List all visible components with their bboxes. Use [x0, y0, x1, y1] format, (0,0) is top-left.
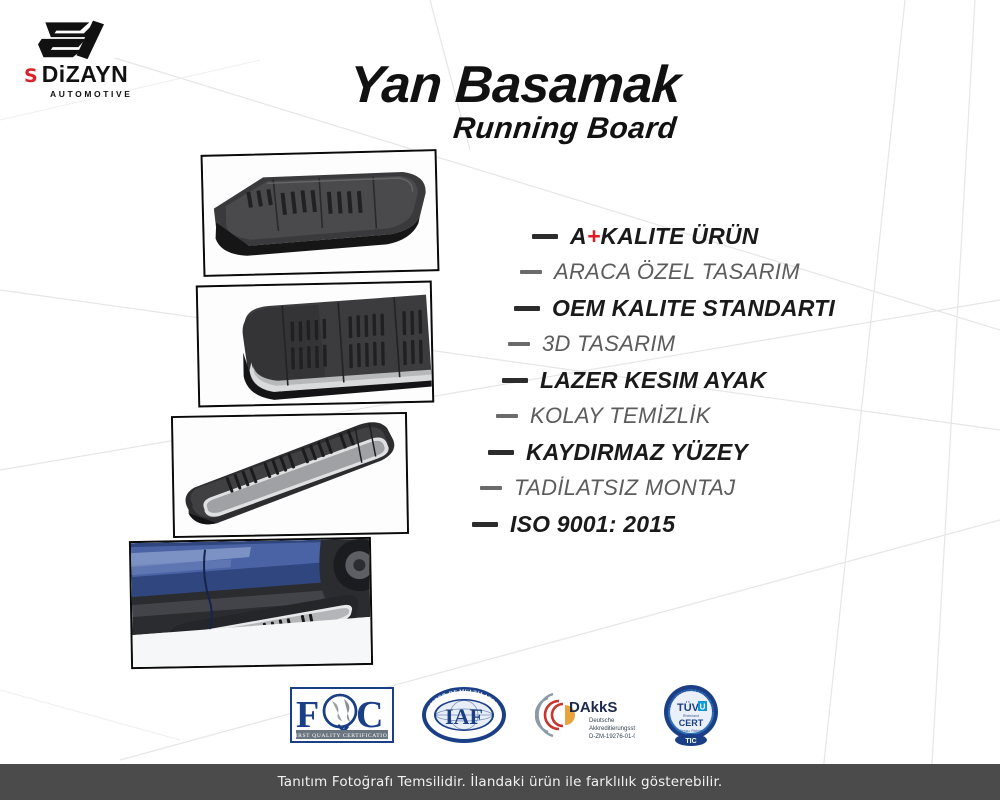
- svg-text:U: U: [700, 703, 706, 712]
- feature-item: 3D TASARIM: [470, 326, 940, 362]
- feature-label: KAYDIRMAZ YÜZEY: [526, 441, 748, 464]
- brand-logo: S DiZAYN AUTOMOTIVE: [24, 16, 174, 99]
- bullet-dash-icon: [480, 486, 502, 490]
- certification-badges: F C FIRST QUALITY CERTIFICATION: [290, 682, 720, 748]
- svg-text:C: C: [356, 694, 383, 736]
- iaf-badge: IAF MEMBER OF MULTILATERAL RECOGNITION A…: [421, 684, 507, 746]
- svg-text:IAF: IAF: [445, 704, 483, 729]
- bullet-dash-icon: [502, 378, 528, 383]
- feature-label: TADİLATSIZ MONTAJ: [514, 477, 735, 499]
- feature-item: KOLAY TEMİZLİK: [470, 398, 940, 434]
- logo-s-letter: S: [24, 67, 38, 86]
- feature-label: 3D TASARIM: [542, 333, 675, 355]
- feature-label: A+KALITE ÜRÜN: [570, 225, 759, 248]
- poster-canvas: S DiZAYN AUTOMOTIVE Yan Basamak Running …: [0, 0, 1000, 800]
- s-monogram-icon: [38, 16, 104, 60]
- product-photo-1[interactable]: [201, 149, 440, 277]
- dakks-badge: DAkkS Deutsche Akkreditierungsstelle D-Z…: [535, 684, 635, 746]
- logo-tagline: AUTOMOTIVE: [50, 89, 174, 99]
- svg-text:DAkkS: DAkkS: [569, 699, 617, 716]
- bullet-dash-icon: [488, 450, 514, 455]
- footer-disclaimer: Tanıtım Fotoğrafı Temsilidir. İlandaki ü…: [278, 774, 723, 790]
- svg-text:Genau. Richtig.: Genau. Richtig.: [679, 729, 702, 733]
- feature-item: KAYDIRMAZ YÜZEY: [470, 434, 940, 470]
- bullet-dash-icon: [472, 522, 498, 527]
- product-photo-3[interactable]: [171, 412, 409, 538]
- product-photo-4[interactable]: [129, 537, 373, 669]
- feature-label: KOLAY TEMİZLİK: [530, 405, 711, 427]
- svg-text:D-ZM-19276-01-00: D-ZM-19276-01-00: [589, 734, 635, 740]
- page-subtitle: Running Board: [328, 112, 802, 146]
- feature-item: ARACA ÖZEL TASARIM: [470, 254, 940, 290]
- bullet-dash-icon: [514, 306, 540, 311]
- svg-text:TÜV: TÜV: [677, 701, 700, 714]
- svg-text:TIC: TIC: [685, 738, 696, 745]
- feature-item: A+KALITE ÜRÜN: [470, 218, 940, 254]
- feature-label: ISO 9001: 2015: [510, 513, 675, 536]
- feature-item: ISO 9001: 2015: [470, 506, 940, 542]
- product-photo-2[interactable]: [196, 281, 435, 408]
- svg-text:FIRST QUALITY CERTIFICATION: FIRST QUALITY CERTIFICATION: [292, 733, 392, 739]
- svg-text:Deutsche: Deutsche: [589, 718, 615, 724]
- fqc-badge: F C FIRST QUALITY CERTIFICATION: [290, 684, 394, 746]
- feature-item: LAZER KESIM AYAK: [470, 362, 940, 398]
- logo-wordmark: DiZAYN: [42, 63, 129, 86]
- feature-item: OEM KALITE STANDARTI: [470, 290, 940, 326]
- feature-label: OEM KALITE STANDARTI: [552, 297, 835, 320]
- svg-text:CERT: CERT: [679, 718, 704, 728]
- svg-text:Akkreditierungsstelle: Akkreditierungsstelle: [589, 726, 635, 732]
- feature-label: ARACA ÖZEL TASARIM: [554, 261, 800, 283]
- bullet-dash-icon: [520, 270, 542, 274]
- footer-bar: Tanıtım Fotoğrafı Temsilidir. İlandaki ü…: [0, 764, 1000, 800]
- tuv-badge: INTERNATIONAL CERTIFICATION TÜV U Rheinl…: [662, 684, 720, 746]
- feature-label: LAZER KESIM AYAK: [540, 369, 766, 392]
- bullet-dash-icon: [496, 414, 518, 418]
- bullet-dash-icon: [508, 342, 530, 346]
- feature-item: TADİLATSIZ MONTAJ: [470, 470, 940, 506]
- feature-list: A+KALITE ÜRÜN ARACA ÖZEL TASARIM OEM KAL…: [470, 218, 940, 542]
- bullet-dash-icon: [532, 234, 558, 239]
- svg-text:F: F: [296, 694, 319, 736]
- plus-accent: +: [587, 223, 601, 249]
- page-title: Yan Basamak: [298, 55, 732, 115]
